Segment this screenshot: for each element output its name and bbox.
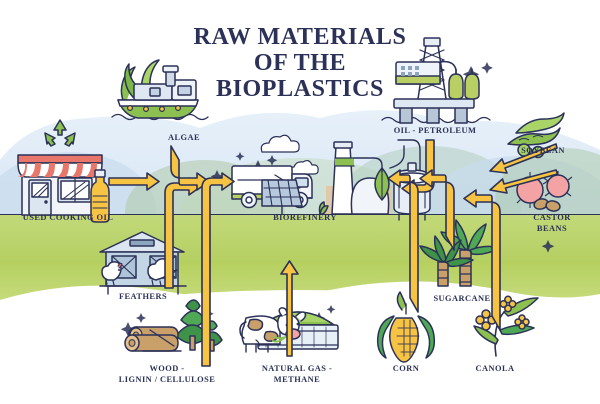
arrow-canola: [464, 190, 500, 330]
arrow-used-cooking-oil: [109, 173, 159, 190]
arrow-corn: [388, 170, 418, 312]
page-title: RAW MATERIALS OF THE BIOPLASTICS: [194, 24, 407, 102]
arrow-castor-beans: [490, 170, 558, 193]
arrow-wood: [202, 173, 234, 366]
arrow-natural-gas: [281, 261, 298, 356]
arrow-soybean: [490, 144, 557, 173]
arrow-feathers: [165, 178, 201, 288]
arrow-sugarcane: [420, 170, 454, 250]
infographic-canvas: RAW MATERIALS OF THE BIOPLASTICS ALGAE O…: [0, 0, 600, 404]
